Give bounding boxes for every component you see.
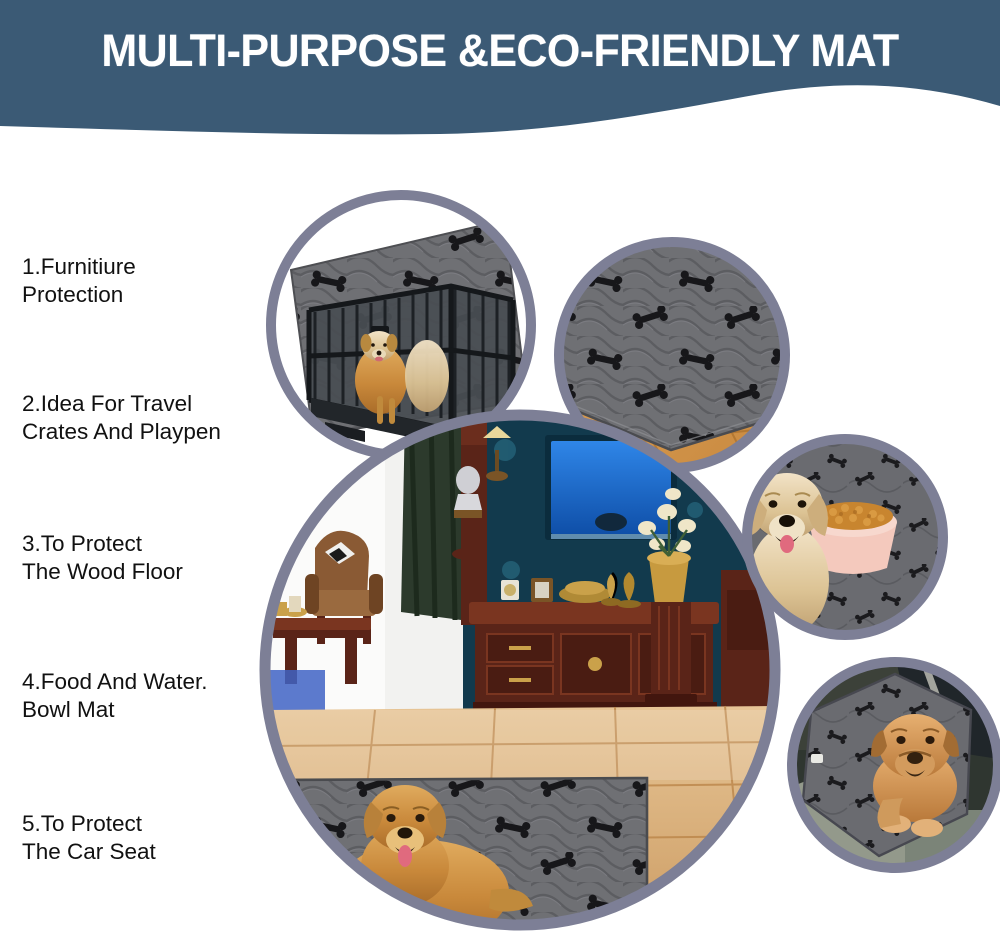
photo-living-room-dog-on-mat [265,411,777,946]
photo-dog-with-food-bowl [745,438,955,650]
feature-item-wood-floor: 3.To Protect The Wood Floor [22,530,183,586]
photo-puppy-on-car-seat-mat [785,655,1000,875]
feature-item-food-bowl-mat: 4.Food And Water. Bowl Mat [22,668,208,724]
product-infographic: MULTI-PURPOSE &ECO-FRIENDLY MAT 1.Furnit… [0,0,1000,946]
feature-item-car-seat: 5.To Protect The Car Seat [22,810,156,866]
photo-collage [255,150,1000,946]
header-banner: MULTI-PURPOSE &ECO-FRIENDLY MAT [0,0,1000,150]
feature-item-furniture-protection: 1.Furnitiure Protection [22,253,136,309]
page-title: MULTI-PURPOSE &ECO-FRIENDLY MAT [23,22,978,80]
feature-item-travel-crates: 2.Idea For Travel Crates And Playpen [22,390,221,446]
feature-list: 1.Furnitiure Protection 2.Idea For Trave… [0,150,285,946]
